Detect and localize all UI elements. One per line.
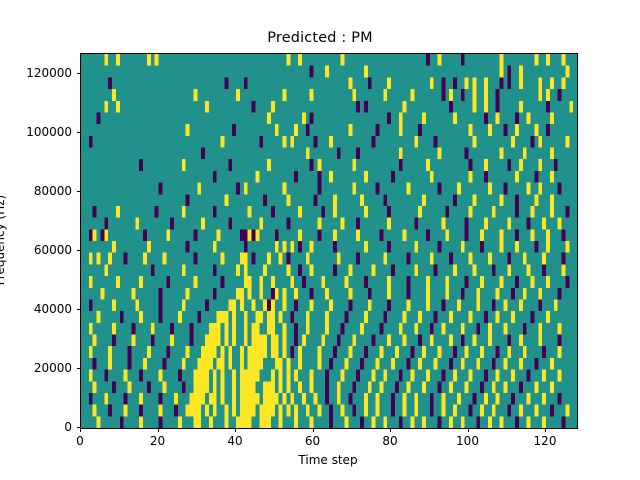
x-tick-label: 40	[227, 434, 242, 448]
y-axis-label: Frequency (Hz)	[0, 195, 7, 286]
figure-canvas: Predicted : PM 020406080100120 020000400…	[0, 0, 640, 480]
y-tick-label: 20000	[34, 361, 72, 375]
x-tick-mark	[235, 428, 236, 432]
x-tick-mark	[80, 428, 81, 432]
x-tick-label: 120	[534, 434, 557, 448]
y-tick-label: 120000	[26, 66, 72, 80]
y-tick-mark	[77, 250, 81, 251]
y-tick-mark	[77, 191, 81, 192]
y-tick-mark	[77, 427, 81, 428]
y-tick-label: 100000	[26, 125, 72, 139]
x-tick-label: 60	[305, 434, 320, 448]
y-tick-mark	[77, 73, 81, 74]
x-tick-mark	[468, 428, 469, 432]
y-tick-label: 0	[64, 420, 72, 434]
x-tick-label: 0	[76, 434, 84, 448]
y-tick-mark	[77, 132, 81, 133]
x-tick-label: 100	[456, 434, 479, 448]
x-tick-label: 80	[382, 434, 397, 448]
x-tick-mark	[313, 428, 314, 432]
x-tick-mark	[390, 428, 391, 432]
chart-title: Predicted : PM	[0, 30, 640, 46]
x-tick-mark	[158, 428, 159, 432]
y-tick-label: 80000	[34, 184, 72, 198]
x-tick-mark	[545, 428, 546, 432]
heatmap-axes[interactable]	[80, 53, 578, 429]
x-axis-label: Time step	[80, 453, 576, 467]
x-tick-label: 20	[150, 434, 165, 448]
y-tick-label: 60000	[34, 243, 72, 257]
y-tick-mark	[77, 368, 81, 369]
heatmap-image[interactable]	[81, 54, 577, 428]
y-tick-label: 40000	[34, 302, 72, 316]
y-tick-mark	[77, 309, 81, 310]
